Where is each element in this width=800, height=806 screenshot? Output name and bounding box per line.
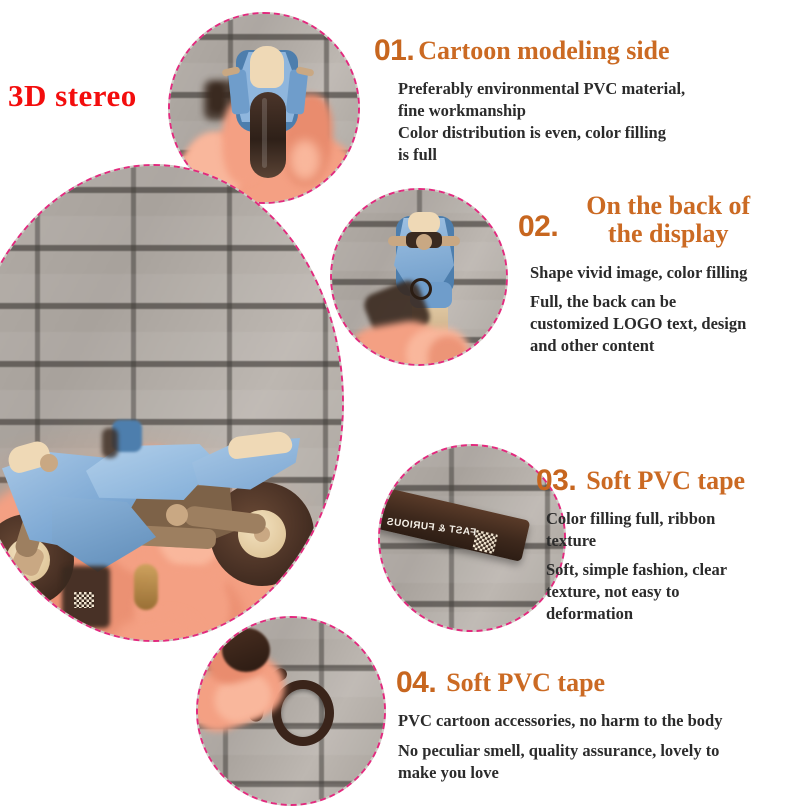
feature-03-title: Soft PVC tape bbox=[586, 467, 745, 495]
feature-02-number: 02. bbox=[518, 212, 558, 242]
feature-02-line-2: Full, the back can be bbox=[530, 291, 796, 313]
feature-01-title: Cartoon modeling side bbox=[418, 37, 669, 65]
feature-block-04: 04. Soft PVC tape PVC cartoon accessorie… bbox=[396, 668, 796, 784]
feature-01-line-2: fine workmanship bbox=[398, 100, 794, 122]
feature-04-body: PVC cartoon accessories, no harm to the … bbox=[398, 710, 796, 784]
feature-03-line-2: texture bbox=[546, 530, 798, 552]
feature-03-number: 03. bbox=[536, 466, 576, 496]
feature-02-line-3: customized LOGO text, design bbox=[530, 313, 796, 335]
feature-01-heading: 01. Cartoon modeling side bbox=[374, 36, 794, 66]
feature-03-heading: 03. Soft PVC tape bbox=[536, 466, 798, 496]
feature-01-line-3: Color distribution is even, color fillin… bbox=[398, 122, 794, 144]
checkered-flag-icon bbox=[74, 592, 94, 608]
feature-03-body: Color filling full, ribbon texture Soft,… bbox=[546, 508, 798, 626]
photo-back-view bbox=[330, 188, 508, 366]
feature-02-title: On the back of the display bbox=[568, 192, 768, 248]
bike-wheel-highlight bbox=[262, 98, 267, 168]
feature-block-02: 02. On the back of the display Shape viv… bbox=[518, 192, 796, 358]
feature-04-line-3: make you love bbox=[398, 762, 796, 784]
keychain-clasp bbox=[410, 278, 432, 300]
feature-01-line-4: is full bbox=[398, 144, 794, 166]
feature-02-body: Shape vivid image, color filling Full, t… bbox=[530, 262, 796, 357]
keychain-chain bbox=[102, 428, 118, 458]
feature-04-line-2: No peculiar smell, quality assurance, lo… bbox=[398, 740, 796, 762]
gold-ring bbox=[134, 564, 158, 610]
photo-key-ring bbox=[196, 616, 386, 806]
feature-block-03: 03. Soft PVC tape Color filling full, ri… bbox=[536, 466, 798, 626]
feature-02-heading: 02. On the back of the display bbox=[518, 192, 796, 248]
bike-back-seat bbox=[408, 212, 440, 234]
feature-03-line-5: deformation bbox=[546, 603, 798, 625]
feature-04-heading: 04. Soft PVC tape bbox=[396, 668, 796, 698]
feature-02-line-4: and other content bbox=[530, 335, 796, 357]
feature-04-line-1: PVC cartoon accessories, no harm to the … bbox=[398, 710, 796, 732]
bike-back-hub bbox=[416, 234, 432, 250]
feature-block-01: 01. Cartoon modeling side Preferably env… bbox=[374, 36, 794, 166]
feature-04-number: 04. bbox=[396, 668, 436, 698]
bike-mirror-knob bbox=[40, 454, 58, 472]
feature-04-title: Soft PVC tape bbox=[446, 669, 605, 697]
brand-label: 3D stereo bbox=[8, 78, 137, 114]
photo-back-view-scene bbox=[332, 190, 506, 364]
feature-02-line-1: Shape vivid image, color filling bbox=[530, 262, 796, 284]
feature-03-line-1: Color filling full, ribbon bbox=[546, 508, 798, 530]
feature-01-line-1: Preferably environmental PVC material, bbox=[398, 78, 794, 100]
feature-03-line-3: Soft, simple fashion, clear bbox=[546, 559, 798, 581]
infographic-page: 3D stereo bbox=[0, 0, 800, 800]
keychain-clasp bbox=[210, 84, 224, 112]
photo-main-side-view bbox=[0, 164, 344, 642]
key-ring-metal-top bbox=[222, 628, 270, 672]
feature-03-line-4: texture, not easy to bbox=[546, 581, 798, 603]
feature-01-number: 01. bbox=[374, 36, 414, 66]
photo-key-ring-scene bbox=[198, 618, 384, 804]
bike-windscreen bbox=[250, 46, 284, 88]
bike-pivot-bolt bbox=[166, 504, 188, 526]
feature-01-body: Preferably environmental PVC material, f… bbox=[398, 78, 794, 166]
photo-main-scene bbox=[0, 166, 342, 640]
